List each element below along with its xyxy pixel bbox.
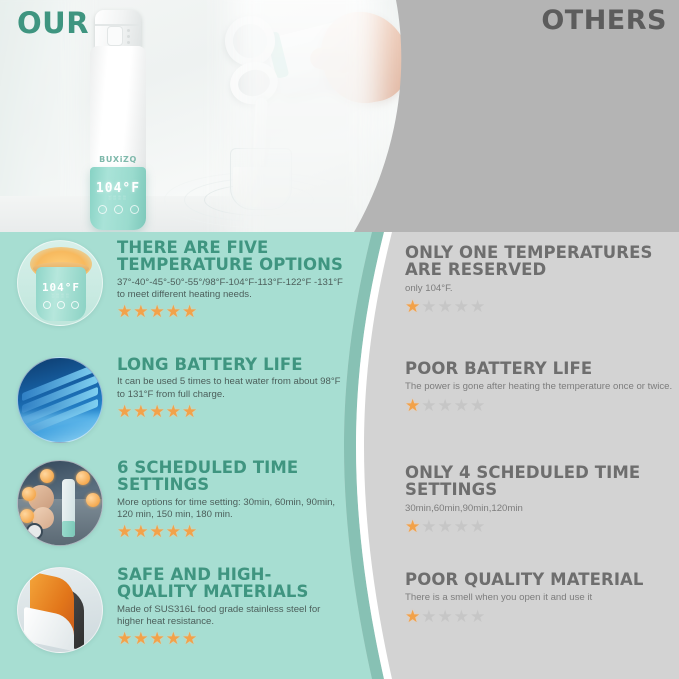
rating-stars: ★★★★★ <box>405 608 679 625</box>
star-empty-icon: ★ <box>421 298 436 315</box>
star-empty-icon: ★ <box>454 608 469 625</box>
comparison-body: 104°F ░░░░ THERE ARE FIVE TEMPERATURE OP… <box>0 232 679 679</box>
star-empty-icon: ★ <box>454 298 469 315</box>
hero-our-panel: BUXiZQ 104°F ░░░░ <box>0 0 400 232</box>
star-filled-icon: ★ <box>133 630 148 647</box>
star-filled-icon: ★ <box>182 303 197 320</box>
star-filled-icon: ★ <box>405 608 420 625</box>
bottle-temp-display: 104°F <box>90 181 146 196</box>
star-filled-icon: ★ <box>117 630 132 647</box>
star-empty-icon: ★ <box>438 298 453 315</box>
star-empty-icon: ★ <box>470 397 485 414</box>
milk-fill <box>233 167 289 207</box>
feature-row-temperature: 104°F ░░░░ THERE ARE FIVE TEMPERATURE OP… <box>0 238 352 326</box>
drawback-row-material: POOR QUALITY MATERIAL There is a smell w… <box>405 571 679 625</box>
thumb-temp-sub: ░░░░ <box>18 293 103 298</box>
milk-glass <box>230 148 292 210</box>
star-filled-icon: ★ <box>405 298 420 315</box>
bottle-heating-base: 104°F ░░░░ <box>90 167 146 230</box>
star-filled-icon: ★ <box>150 303 165 320</box>
feature-title: SAFE AND HIGH-QUALITY MATERIALS <box>117 566 343 601</box>
bottle-vent-dots <box>127 29 130 43</box>
star-filled-icon: ★ <box>117 303 132 320</box>
star-filled-icon: ★ <box>133 403 148 420</box>
star-filled-icon: ★ <box>182 630 197 647</box>
star-filled-icon: ★ <box>150 523 165 540</box>
star-filled-icon: ★ <box>117 523 132 540</box>
star-empty-icon: ★ <box>454 397 469 414</box>
feature-title: THERE ARE FIVE TEMPERATURE OPTIONS <box>117 239 343 274</box>
pouring-scene <box>218 6 398 232</box>
drawback-title: POOR QUALITY MATERIAL <box>405 571 679 588</box>
drawback-row-temperature: ONLY ONE TEMPERATURES ARE RESERVED only … <box>405 244 679 315</box>
star-filled-icon: ★ <box>182 403 197 420</box>
bottle-top-window <box>107 26 123 46</box>
rating-stars: ★★★★★ <box>117 303 343 320</box>
star-empty-icon: ★ <box>470 608 485 625</box>
feature-title: 6 SCHEDULED TIME SETTINGS <box>117 459 343 494</box>
bottle-spout <box>226 57 283 109</box>
feature-row-battery: LONG BATTERY LIFE It can be used 5 times… <box>0 355 352 443</box>
rating-stars: ★★★★★ <box>405 397 679 414</box>
feature-row-schedule: 6 SCHEDULED TIME SETTINGS More options f… <box>0 458 352 546</box>
star-empty-icon: ★ <box>454 518 469 535</box>
rating-stars: ★★★★★ <box>405 518 679 535</box>
night-feeding-thumbnail-icon <box>17 460 103 546</box>
our-product-bottle: BUXiZQ 104°F ░░░░ <box>88 10 148 222</box>
star-filled-icon: ★ <box>117 403 132 420</box>
feature-description: It can be used 5 times to heat water fro… <box>117 376 343 401</box>
drawback-description: only 104°F. <box>405 283 679 295</box>
rating-stars: ★★★★★ <box>117 523 343 540</box>
star-empty-icon: ★ <box>438 518 453 535</box>
others-features-column: ONLY ONE TEMPERATURES ARE RESERVED only … <box>405 232 679 679</box>
steel-layers-thumbnail-icon <box>17 567 103 653</box>
star-empty-icon: ★ <box>421 518 436 535</box>
tilted-bottle-teal-band <box>266 31 290 79</box>
star-empty-icon: ★ <box>421 608 436 625</box>
bottle-brand-label: BUXiZQ <box>88 155 148 164</box>
rating-stars: ★★★★★ <box>117 630 343 647</box>
drawback-description: There is a smell when you open it and us… <box>405 592 679 604</box>
ripple-inner <box>204 184 314 216</box>
our-features-column: 104°F ░░░░ THERE ARE FIVE TEMPERATURE OP… <box>0 232 352 679</box>
star-filled-icon: ★ <box>405 518 420 535</box>
bottle-flip-lid <box>220 11 281 72</box>
star-empty-icon: ★ <box>438 397 453 414</box>
feature-row-materials: SAFE AND HIGH-QUALITY MATERIALS Made of … <box>0 565 352 653</box>
comparison-infographic: BUXiZQ 104°F ░░░░ <box>0 0 679 679</box>
star-filled-icon: ★ <box>166 523 181 540</box>
star-filled-icon: ★ <box>182 523 197 540</box>
star-filled-icon: ★ <box>133 303 148 320</box>
drawback-row-battery: POOR BATTERY LIFE The power is gone afte… <box>405 360 679 414</box>
star-filled-icon: ★ <box>133 523 148 540</box>
drawback-description: The power is gone after heating the temp… <box>405 381 679 393</box>
label-others: OTHERS <box>541 5 667 36</box>
label-our: OUR <box>17 6 89 40</box>
milk-stream <box>252 98 268 169</box>
star-filled-icon: ★ <box>150 403 165 420</box>
rating-stars: ★★★★★ <box>405 298 679 315</box>
drawback-title: ONLY 4 SCHEDULED TIME SETTINGS <box>405 464 679 499</box>
drawback-row-schedule: ONLY 4 SCHEDULED TIME SETTINGS 30min,60m… <box>405 464 679 535</box>
drawback-title: POOR BATTERY LIFE <box>405 360 679 377</box>
rating-stars: ★★★★★ <box>117 403 343 420</box>
tilted-bottle <box>264 10 395 99</box>
star-filled-icon: ★ <box>166 630 181 647</box>
heated-bottle-thumbnail-icon: 104°F ░░░░ <box>17 240 103 326</box>
drawback-description: 30min,60min,90min,120min <box>405 503 679 515</box>
hand-finger <box>309 46 356 74</box>
star-filled-icon: ★ <box>150 630 165 647</box>
hero-banner: BUXiZQ 104°F ░░░░ <box>0 0 679 232</box>
star-filled-icon: ★ <box>166 303 181 320</box>
feature-description: Made of SUS316L food grade stainless ste… <box>117 604 343 629</box>
feature-title: LONG BATTERY LIFE <box>117 356 343 373</box>
feature-description: More options for time setting: 30min, 60… <box>117 497 343 522</box>
feature-description: 37°-40°-45°-50°-55°/98°F-104°F-113°F-122… <box>117 277 343 302</box>
star-empty-icon: ★ <box>421 397 436 414</box>
battery-cells-thumbnail-icon <box>17 357 103 443</box>
bottle-control-icons <box>90 205 146 214</box>
star-empty-icon: ★ <box>438 608 453 625</box>
star-filled-icon: ★ <box>405 397 420 414</box>
star-empty-icon: ★ <box>470 298 485 315</box>
star-filled-icon: ★ <box>166 403 181 420</box>
star-empty-icon: ★ <box>470 518 485 535</box>
bottle-temp-subdisplay: ░░░░ <box>90 195 146 200</box>
drawback-title: ONLY ONE TEMPERATURES ARE RESERVED <box>405 244 679 279</box>
